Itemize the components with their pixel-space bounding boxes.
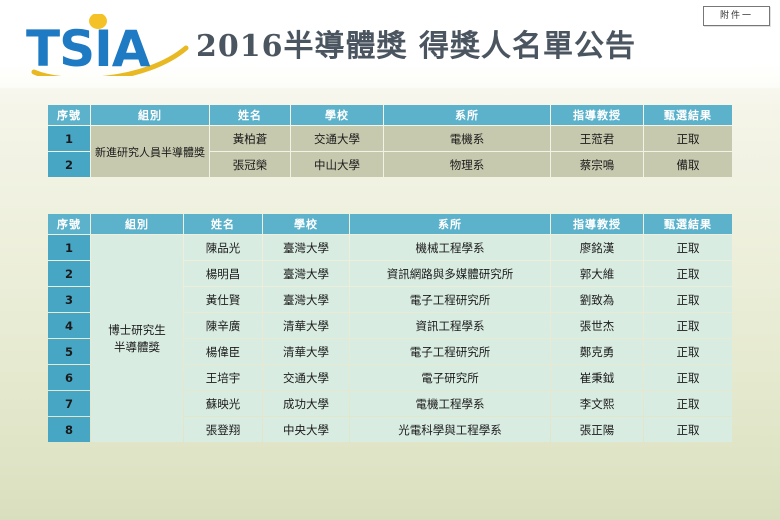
col-header-school: 學校	[263, 214, 349, 234]
cell-school: 臺灣大學	[263, 287, 349, 312]
cell-advisor: 蔡宗鳴	[551, 152, 643, 177]
cell-no: 2	[48, 261, 90, 286]
tsia-logo-svg: TSIA	[26, 14, 196, 76]
cell-result: 正取	[644, 339, 732, 364]
cell-no: 6	[48, 365, 90, 390]
slide-canvas: TSIA 附件一 2016半導體獎 得獎人名單公告 序號 組別 姓名 學校 系所…	[0, 0, 780, 520]
page-title: 2016半導體獎 得獎人名單公告	[196, 28, 726, 66]
col-header-group: 組別	[91, 105, 209, 125]
col-header-no: 序號	[48, 105, 90, 125]
col-header-dept: 系所	[350, 214, 550, 234]
cell-advisor: 劉致為	[551, 287, 643, 312]
cell-dept: 資訊工程學系	[350, 313, 550, 338]
cell-no: 1	[48, 235, 90, 260]
cell-no: 5	[48, 339, 90, 364]
cell-school: 中山大學	[291, 152, 383, 177]
cell-group-label-line2: 半導體獎	[93, 339, 181, 356]
cell-advisor: 張正陽	[551, 417, 643, 442]
col-header-dept: 系所	[384, 105, 550, 125]
cell-school: 中央大學	[263, 417, 349, 442]
cell-result: 正取	[644, 417, 732, 442]
cell-name: 蘇映光	[184, 391, 262, 416]
cell-advisor: 廖銘漢	[551, 235, 643, 260]
cell-group-label-line1: 博士研究生	[93, 322, 181, 339]
cell-group-label: 新進研究人員半導體獎	[91, 126, 209, 177]
cell-no: 3	[48, 287, 90, 312]
cell-advisor: 郭大維	[551, 261, 643, 286]
cell-dept: 電機工程學系	[350, 391, 550, 416]
cell-no: 8	[48, 417, 90, 442]
cell-name: 王培宇	[184, 365, 262, 390]
cell-result: 正取	[644, 287, 732, 312]
attachment-badge: 附件一	[703, 6, 770, 26]
cell-dept: 電子研究所	[350, 365, 550, 390]
cell-no: 7	[48, 391, 90, 416]
table-header-row: 序號 組別 姓名 學校 系所 指導教授 甄選結果	[48, 214, 732, 234]
cell-name: 陳辛廣	[184, 313, 262, 338]
cell-advisor: 崔秉鉞	[551, 365, 643, 390]
col-header-name: 姓名	[184, 214, 262, 234]
tsia-logo: TSIA	[26, 14, 196, 76]
cell-school: 交通大學	[263, 365, 349, 390]
cell-name: 黃仕賢	[184, 287, 262, 312]
cell-name: 楊偉臣	[184, 339, 262, 364]
cell-no: 1	[48, 126, 90, 151]
cell-no: 4	[48, 313, 90, 338]
col-header-no: 序號	[48, 214, 90, 234]
cell-name: 陳品光	[184, 235, 262, 260]
col-header-name: 姓名	[210, 105, 290, 125]
col-header-school: 學校	[291, 105, 383, 125]
cell-advisor: 王蒞君	[551, 126, 643, 151]
cell-result: 正取	[644, 261, 732, 286]
col-header-group: 組別	[91, 214, 183, 234]
cell-advisor: 鄭克勇	[551, 339, 643, 364]
table-row: 1博士研究生半導體獎陳品光臺灣大學機械工程學系廖銘漢正取	[48, 235, 732, 260]
cell-school: 臺灣大學	[263, 235, 349, 260]
cell-school: 臺灣大學	[263, 261, 349, 286]
cell-advisor: 張世杰	[551, 313, 643, 338]
cell-dept: 資訊網路與多媒體研究所	[350, 261, 550, 286]
cell-school: 交通大學	[291, 126, 383, 151]
col-header-result: 甄選結果	[644, 105, 732, 125]
cell-advisor: 李文熙	[551, 391, 643, 416]
cell-dept: 電子工程研究所	[350, 339, 550, 364]
cell-school: 清華大學	[263, 313, 349, 338]
cell-school: 成功大學	[263, 391, 349, 416]
cell-school: 清華大學	[263, 339, 349, 364]
cell-group-label: 博士研究生半導體獎	[91, 235, 183, 442]
cell-name: 張冠榮	[210, 152, 290, 177]
cell-dept: 電機系	[384, 126, 550, 151]
award-table-new-researcher: 序號 組別 姓名 學校 系所 指導教授 甄選結果 1 新進研究人員半導體獎 黃柏…	[47, 104, 733, 178]
award-table-phd-student: 序號 組別 姓名 學校 系所 指導教授 甄選結果 1博士研究生半導體獎陳品光臺灣…	[47, 213, 733, 443]
cell-result: 正取	[644, 391, 732, 416]
col-header-advisor: 指導教授	[551, 214, 643, 234]
cell-result: 備取	[644, 152, 732, 177]
logo-wordmark: TSIA	[26, 20, 151, 76]
cell-result: 正取	[644, 313, 732, 338]
cell-result: 正取	[644, 235, 732, 260]
cell-dept: 機械工程學系	[350, 235, 550, 260]
cell-name: 楊明昌	[184, 261, 262, 286]
cell-result: 正取	[644, 126, 732, 151]
cell-name: 張登翔	[184, 417, 262, 442]
cell-name: 黃柏蒼	[210, 126, 290, 151]
table-header-row: 序號 組別 姓名 學校 系所 指導教授 甄選結果	[48, 105, 732, 125]
cell-no: 2	[48, 152, 90, 177]
col-header-result: 甄選結果	[644, 214, 732, 234]
cell-dept: 光電科學與工程學系	[350, 417, 550, 442]
slide-header: TSIA 附件一 2016半導體獎 得獎人名單公告	[0, 0, 780, 88]
cell-dept: 電子工程研究所	[350, 287, 550, 312]
table-row: 1 新進研究人員半導體獎 黃柏蒼 交通大學 電機系 王蒞君 正取	[48, 126, 732, 151]
col-header-advisor: 指導教授	[551, 105, 643, 125]
cell-result: 正取	[644, 365, 732, 390]
cell-dept: 物理系	[384, 152, 550, 177]
